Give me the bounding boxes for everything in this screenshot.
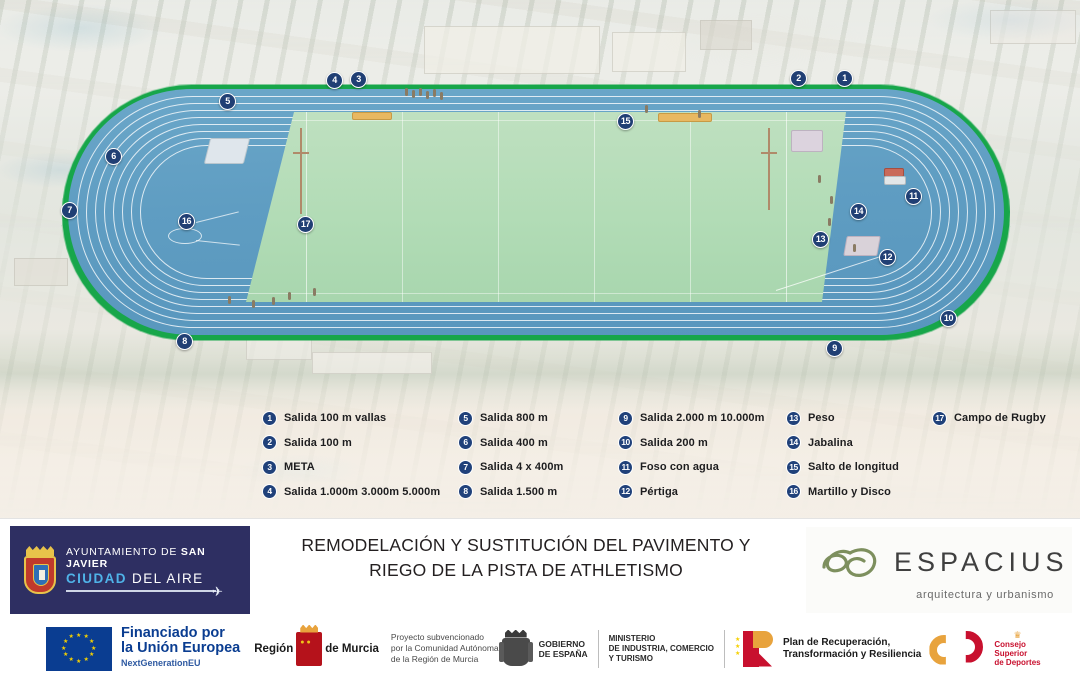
legend-label-3: META	[284, 461, 315, 473]
eu-star: ★	[69, 634, 74, 640]
ministerio-line-3: Y TURISMO	[609, 654, 714, 664]
map-marker-1[interactable]: 1	[836, 70, 853, 87]
rugby-post-crossbar	[761, 152, 777, 154]
eu-line-2: la Unión Europea	[121, 641, 240, 656]
legend-number-8: 8	[458, 484, 473, 499]
murcia-word-2: de Murcia	[325, 643, 379, 655]
map-marker-16[interactable]: 16	[178, 213, 195, 230]
legend-number-14: 14	[786, 435, 801, 450]
legend-label-8: Salida 1.500 m	[480, 486, 557, 498]
map-marker-15[interactable]: 15	[617, 113, 634, 130]
murcia-word-1: Región	[254, 643, 293, 655]
prtr-line-2: Transformación y Resiliencia	[783, 649, 921, 661]
legend-item-17: 17Campo de Rugby	[932, 410, 1072, 426]
eu-star: ★	[89, 652, 94, 658]
plane-icon: ✈	[212, 585, 223, 598]
pole-vault-pit	[843, 236, 881, 256]
legend-number-9: 9	[618, 411, 633, 426]
pole-vault-landing-mat	[791, 130, 823, 152]
csd-line-2: Superior	[994, 649, 1040, 658]
eu-funding-text: Financiado por la Unión Europea NextGene…	[121, 626, 240, 671]
legend-number-7: 7	[458, 460, 473, 475]
map-marker-5[interactable]: 5	[219, 93, 236, 110]
legend-label-2: Salida 100 m	[284, 437, 352, 449]
jump-runway-pad	[352, 112, 392, 120]
san-javier-crest-icon	[22, 546, 58, 594]
legend-number-5: 5	[458, 411, 473, 426]
title-band: AYUNTAMIENTO DE SAN JAVIER CIUDAD DEL AI…	[0, 518, 1080, 622]
poster-root: 1234567891011121314151617 1Salida 100 m …	[0, 0, 1080, 675]
water-jump-pit	[884, 176, 906, 185]
legend-column-4: 13Peso14Jabalina15Salto de longitud16Mar…	[786, 410, 932, 500]
hammer-discus-circle	[168, 228, 202, 244]
legend-item-7: 7Salida 4 x 400m	[458, 459, 618, 475]
map-marker-4[interactable]: 4	[326, 72, 343, 89]
map-marker-10[interactable]: 10	[940, 310, 957, 327]
eu-line-1: Financiado por	[121, 626, 240, 641]
map-marker-9[interactable]: 9	[826, 340, 843, 357]
espacius-wordmark: ESPACIUS	[894, 547, 1069, 578]
legend-number-15: 15	[786, 460, 801, 475]
funding-footer: ★★★★★★★★★★★★ Financiado por la Unión Eur…	[0, 622, 1080, 675]
legend-column-5: 17Campo de Rugby	[932, 410, 1072, 500]
ayuntamiento-san-javier-logo: AYUNTAMIENTO DE SAN JAVIER CIUDAD DEL AI…	[10, 526, 250, 614]
map-marker-6[interactable]: 6	[105, 148, 122, 165]
eu-star: ★	[89, 639, 94, 645]
legend-item-6: 6Salida 400 m	[458, 435, 618, 451]
rugby-post	[768, 128, 770, 210]
subvencion-line-1: Proyecto subvencionado	[391, 632, 499, 643]
ministerio-line-2: DE INDUSTRIA, COMERCIO	[609, 644, 714, 654]
legend-number-6: 6	[458, 435, 473, 450]
ayto-del-aire: DEL AIRE	[127, 571, 204, 586]
gobierno-line-2: DE ESPAÑA	[539, 649, 588, 659]
legend-number-1: 1	[262, 411, 277, 426]
subvencion-line-2: por la Comunidad Autónoma	[391, 643, 499, 654]
rugby-post-crossbar	[293, 152, 309, 154]
map-marker-12[interactable]: 12	[879, 249, 896, 266]
title-line-2: RIEGO DE LA PISTA DE ATHLETISMO	[256, 558, 796, 583]
legend-number-12: 12	[618, 484, 633, 499]
murcia-crest-icon: ●●	[296, 632, 322, 666]
legend-item-12: 12Pértiga	[618, 484, 786, 500]
legend-label-7: Salida 4 x 400m	[480, 461, 563, 473]
ayto-underline: ✈	[66, 588, 250, 595]
legend-item-13: 13Peso	[786, 410, 932, 426]
espacius-swirl-icon	[816, 539, 890, 585]
legend-item-2: 2Salida 100 m	[262, 435, 458, 451]
ayto-line1-prefix: AYUNTAMIENTO DE	[66, 546, 181, 558]
eu-line-3: NextGenerationEU	[121, 656, 240, 671]
legend-number-16: 16	[786, 484, 801, 499]
gobierno-de-espana-logo: GOBIERNO DE ESPAÑA	[499, 630, 588, 668]
eu-star: ★	[91, 646, 96, 652]
legend-label-10: Salida 200 m	[640, 437, 708, 449]
ayto-ciudad: CIUDAD	[66, 571, 127, 586]
legend-item-15: 15Salto de longitud	[786, 459, 932, 475]
gobierno-line-1: GOBIERNO	[539, 639, 588, 649]
legend-label-9: Salida 2.000 m 10.000m	[640, 412, 765, 424]
eu-star: ★	[76, 659, 81, 665]
map-marker-17[interactable]: 17	[297, 216, 314, 233]
map-marker-3[interactable]: 3	[350, 71, 367, 88]
legend: 1Salida 100 m vallas2Salida 100 m3META4S…	[262, 410, 1072, 514]
eu-star: ★	[63, 652, 68, 658]
divider	[598, 630, 599, 668]
map-marker-13[interactable]: 13	[812, 231, 829, 248]
rugby-field	[246, 112, 846, 302]
legend-number-17: 17	[932, 411, 947, 426]
legend-label-14: Jabalina	[808, 437, 853, 449]
csd-swirl-icon	[929, 629, 989, 669]
legend-label-15: Salto de longitud	[808, 461, 899, 473]
csd-line-3: de Deportes	[994, 658, 1040, 667]
legend-label-11: Foso con agua	[640, 461, 719, 473]
legend-label-1: Salida 100 m vallas	[284, 412, 386, 424]
legend-item-16: 16Martillo y Disco	[786, 484, 932, 500]
eu-star: ★	[61, 646, 66, 652]
legend-number-10: 10	[618, 435, 633, 450]
divider	[724, 630, 725, 668]
legend-number-3: 3	[262, 460, 277, 475]
espacius-tagline: arquitectura y urbanismo	[806, 589, 1072, 601]
title-line-1: REMODELACIÓN Y SUSTITUCIÓN DEL PAVIMENTO…	[256, 533, 796, 558]
prtr-r-icon: ★★★	[735, 629, 777, 669]
legend-item-4: 4Salida 1.000m 3.000m 5.000m	[262, 484, 458, 500]
long-jump-pit-west	[204, 138, 250, 164]
legend-number-4: 4	[262, 484, 277, 499]
legend-item-3: 3META	[262, 459, 458, 475]
prtr-logo: ★★★ Plan de Recuperación, Transformación…	[735, 629, 921, 669]
long-jump-sandpit	[658, 113, 712, 122]
ministerio-line-1: MINISTERIO	[609, 634, 714, 644]
legend-column-2: 5Salida 800 m6Salida 400 m7Salida 4 x 40…	[458, 410, 618, 500]
eu-star: ★	[84, 657, 89, 663]
legend-label-4: Salida 1.000m 3.000m 5.000m	[284, 486, 440, 498]
map-marker-8[interactable]: 8	[176, 333, 193, 350]
legend-label-12: Pértiga	[640, 486, 678, 498]
map-marker-2[interactable]: 2	[790, 70, 807, 87]
csd-line-1: Consejo	[994, 640, 1040, 649]
consejo-superior-deportes-logo: ♛ Consejo Superior de Deportes	[929, 629, 1040, 669]
legend-label-5: Salida 800 m	[480, 412, 548, 424]
legend-column-3: 9Salida 2.000 m 10.000m10Salida 200 m11F…	[618, 410, 786, 500]
project-title: REMODELACIÓN Y SUSTITUCIÓN DEL PAVIMENTO…	[256, 533, 796, 583]
legend-column-1: 1Salida 100 m vallas2Salida 100 m3META4S…	[262, 410, 458, 500]
eu-star: ★	[69, 657, 74, 663]
legend-label-6: Salida 400 m	[480, 437, 548, 449]
legend-number-13: 13	[786, 411, 801, 426]
spain-coat-of-arms-icon	[499, 630, 533, 668]
legend-number-2: 2	[262, 435, 277, 450]
map-marker-14[interactable]: 14	[850, 203, 867, 220]
region-de-murcia-logo: Región ●● de Murcia	[254, 632, 379, 666]
legend-number-11: 11	[618, 460, 633, 475]
legend-item-14: 14Jabalina	[786, 435, 932, 451]
legend-label-17: Campo de Rugby	[954, 412, 1046, 424]
legend-item-5: 5Salida 800 m	[458, 410, 618, 426]
crown-icon: ♛	[994, 631, 1040, 640]
map-marker-7[interactable]: 7	[61, 202, 78, 219]
subvencion-text: Proyecto subvencionado por la Comunidad …	[391, 632, 499, 665]
legend-item-8: 8Salida 1.500 m	[458, 484, 618, 500]
legend-item-1: 1Salida 100 m vallas	[262, 410, 458, 426]
legend-label-16: Martillo y Disco	[808, 486, 891, 498]
eu-flag-icon: ★★★★★★★★★★★★	[46, 627, 112, 671]
espacius-logo: ESPACIUS arquitectura y urbanismo	[806, 527, 1072, 613]
eu-star: ★	[76, 633, 81, 639]
legend-item-9: 9Salida 2.000 m 10.000m	[618, 410, 786, 426]
prtr-line-1: Plan de Recuperación,	[783, 637, 921, 649]
map-marker-11[interactable]: 11	[905, 188, 922, 205]
legend-item-11: 11Foso con agua	[618, 459, 786, 475]
subvencion-line-3: de la Región de Murcia	[391, 654, 499, 665]
legend-label-13: Peso	[808, 412, 835, 424]
legend-item-10: 10Salida 200 m	[618, 435, 786, 451]
rugby-post	[300, 128, 302, 214]
ministerio-text: MINISTERIO DE INDUSTRIA, COMERCIO Y TURI…	[609, 634, 714, 664]
